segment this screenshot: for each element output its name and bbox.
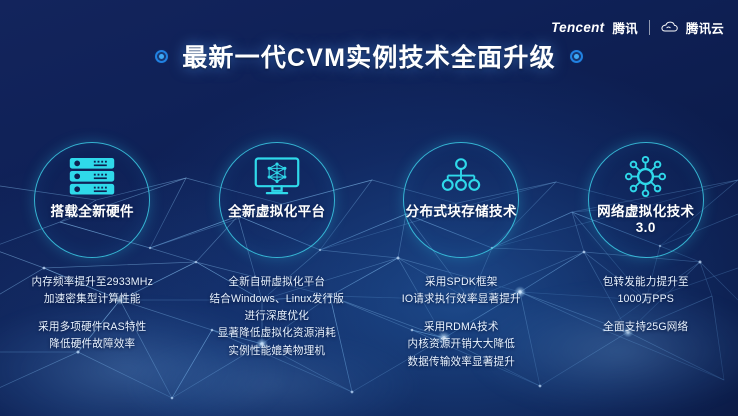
decor-dot-left-icon	[155, 50, 168, 63]
card-line: 包转发能力提升至	[557, 274, 735, 291]
card-line: IO请求执行效率显著提升	[372, 291, 550, 308]
distributed-storage-tree-icon	[438, 155, 484, 197]
card-text-block: 采用多项硬件RAS特性 降低硬件故障效率	[3, 319, 181, 353]
feature-card-network[interactable]: 网络虚拟化技术 3.0 包转发能力提升至 1000万PPS 全面支持25G网络	[554, 142, 738, 371]
virtualization-monitor-icon	[253, 155, 301, 197]
feature-circle: 搭载全新硬件	[34, 142, 150, 258]
network-hub-icon	[623, 155, 668, 197]
feature-card-hardware[interactable]: 搭载全新硬件 内存频率提升至2933MHz 加速密集型计算性能 采用多项硬件RA…	[0, 142, 185, 371]
card-line: 降低硬件故障效率	[3, 336, 181, 353]
card-title: 分布式块存储技术	[406, 204, 517, 220]
card-text-block: 采用SPDK框架 IO请求执行效率显著提升	[372, 274, 550, 308]
card-line: 采用RDMA技术	[372, 319, 550, 336]
slide-title-row: 最新一代CVM实例技术全面升级	[0, 38, 738, 74]
feature-circle: 全新虚拟化平台	[219, 142, 335, 258]
card-text-block: 全新自研虚拟化平台 结合Windows、Linux发行版 进行深度优化 显著降低…	[188, 274, 366, 360]
card-body: 内存频率提升至2933MHz 加速密集型计算性能 采用多项硬件RAS特性 降低硬…	[3, 274, 181, 354]
card-line: 数据传输效率显著提升	[372, 354, 550, 371]
card-body: 包转发能力提升至 1000万PPS 全面支持25G网络	[557, 274, 735, 336]
logo-cloud-cn: 腾讯云	[686, 18, 724, 37]
card-line: 内存频率提升至2933MHz	[3, 274, 181, 291]
feature-circle: 分布式块存储技术	[403, 142, 519, 258]
card-body: 全新自研虚拟化平台 结合Windows、Linux发行版 进行深度优化 显著降低…	[188, 274, 366, 360]
card-line: 采用多项硬件RAS特性	[3, 319, 181, 336]
card-line: 进行深度优化	[188, 308, 366, 325]
card-line: 全新自研虚拟化平台	[188, 274, 366, 291]
feature-card-virtualization[interactable]: 全新虚拟化平台 全新自研虚拟化平台 结合Windows、Linux发行版 进行深…	[185, 142, 370, 371]
card-title: 网络虚拟化技术 3.0	[597, 204, 694, 237]
card-title: 全新虚拟化平台	[228, 204, 325, 220]
card-line: 实例性能媲美物理机	[188, 343, 366, 360]
feature-card-storage[interactable]: 分布式块存储技术 采用SPDK框架 IO请求执行效率显著提升 采用RDMA技术 …	[369, 142, 554, 371]
card-line: 加速密集型计算性能	[3, 291, 181, 308]
card-text-block: 包转发能力提升至 1000万PPS	[557, 274, 735, 308]
slide-canvas: Tencent 腾讯 腾讯云 最新一代CVM实例技术全面升级	[0, 0, 738, 416]
logo-divider	[649, 20, 650, 35]
logo-brand-en: Tencent	[551, 20, 604, 35]
card-line: 全面支持25G网络	[557, 319, 735, 336]
card-line: 采用SPDK框架	[372, 274, 550, 291]
feature-circle: 网络虚拟化技术 3.0	[588, 142, 704, 258]
card-line: 1000万PPS	[557, 291, 735, 308]
decor-dot-right-icon	[570, 50, 583, 63]
card-line: 结合Windows、Linux发行版	[188, 291, 366, 308]
card-line: 内核资源开销大大降低	[372, 336, 550, 353]
card-title: 搭载全新硬件	[51, 204, 134, 220]
page-title: 最新一代CVM实例技术全面升级	[182, 38, 556, 74]
cloud-icon	[661, 21, 678, 34]
feature-card-row: 搭载全新硬件 内存频率提升至2933MHz 加速密集型计算性能 采用多项硬件RA…	[0, 142, 738, 371]
card-line: 显著降低虚拟化资源消耗	[188, 325, 366, 342]
server-rack-icon	[67, 155, 117, 197]
tencent-logo: Tencent 腾讯 腾讯云	[551, 17, 724, 37]
card-text-block: 内存频率提升至2933MHz 加速密集型计算性能	[3, 274, 181, 308]
card-text-block: 全面支持25G网络	[557, 319, 735, 336]
card-body: 采用SPDK框架 IO请求执行效率显著提升 采用RDMA技术 内核资源开销大大降…	[372, 274, 550, 371]
logo-brand-cn: 腾讯	[612, 18, 637, 37]
card-text-block: 采用RDMA技术 内核资源开销大大降低 数据传输效率显著提升	[372, 319, 550, 370]
